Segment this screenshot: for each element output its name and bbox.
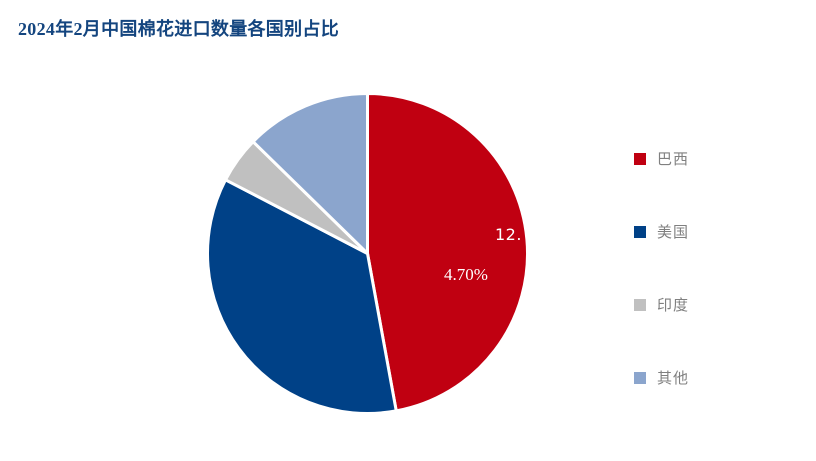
legend-label-usa: 美国 xyxy=(657,221,689,242)
pie-slice-brazil[interactable] xyxy=(368,94,528,411)
page-title: 2024年2月中国棉花进口数量各国别占比 xyxy=(18,15,339,41)
legend-label-other: 其他 xyxy=(657,367,689,388)
legend-item-other[interactable]: 其他 xyxy=(634,341,784,414)
legend-swatch-india xyxy=(634,299,646,311)
legend-item-usa[interactable]: 美国 xyxy=(634,195,784,268)
legend-label-brazil: 巴西 xyxy=(657,148,689,169)
legend-swatch-other xyxy=(634,372,646,384)
legend-label-india: 印度 xyxy=(657,294,689,315)
pie-chart: 47.13% 35.50% 4.70% 12. 68% xyxy=(206,92,529,415)
legend-item-brazil[interactable]: 巴西 xyxy=(634,122,784,195)
legend-swatch-usa xyxy=(634,226,646,238)
pie-chart-svg xyxy=(206,92,529,415)
legend-swatch-brazil xyxy=(634,153,646,165)
legend: 巴西 美国 印度 其他 xyxy=(634,122,784,414)
pie-slice-group xyxy=(207,94,527,414)
legend-item-india[interactable]: 印度 xyxy=(634,268,784,341)
chart-page: 2024年2月中国棉花进口数量各国别占比 47.13% 35.50% 4.70%… xyxy=(0,0,816,461)
